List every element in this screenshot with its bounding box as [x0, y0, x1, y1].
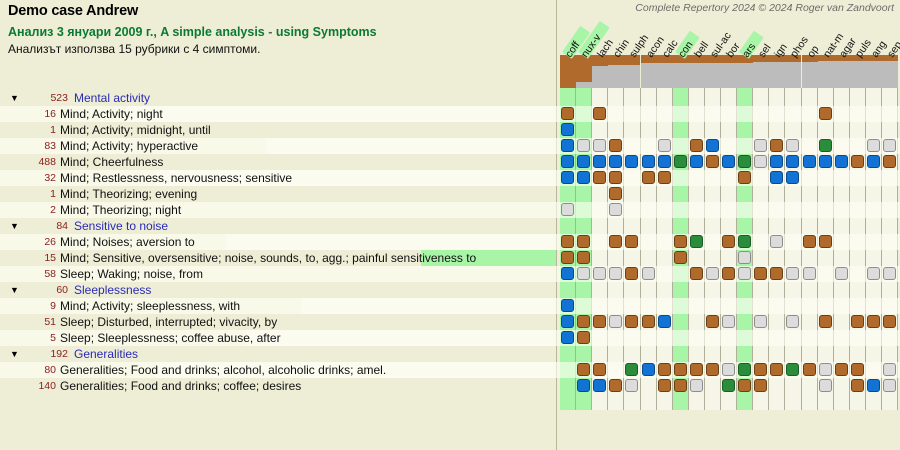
grade-dot[interactable] [819, 315, 832, 328]
grade-dot[interactable] [867, 379, 880, 392]
rubric-name[interactable]: Generalities; Food and drinks; alcohol, … [60, 362, 386, 378]
grade-dot[interactable] [867, 155, 880, 168]
grade-dot[interactable] [819, 379, 832, 392]
grade-dot[interactable] [883, 379, 896, 392]
grade-dot[interactable] [609, 187, 622, 200]
analysis-subtitle: Анализ 3 януари 2009 г., A simple analys… [8, 25, 377, 39]
table-row[interactable]: 32Mind; Restlessness, nervousness; sensi… [0, 170, 900, 186]
grade-dot[interactable] [803, 267, 816, 280]
grade-dot[interactable] [770, 155, 783, 168]
chevron-down-icon[interactable]: ▼ [10, 282, 19, 298]
grade-dot[interactable] [593, 267, 606, 280]
score-bar-coff[interactable] [560, 55, 576, 88]
score-bar-puls[interactable] [850, 55, 866, 88]
analysis-separator: - [265, 25, 276, 39]
grade-dot[interactable] [625, 235, 638, 248]
grade-dot[interactable] [883, 363, 896, 376]
table-row[interactable]: 1Mind; Activity; midnight, until [0, 122, 900, 138]
grade-dot[interactable] [754, 363, 767, 376]
grade-dot[interactable] [883, 315, 896, 328]
rubric-row-highlight [301, 298, 556, 314]
grade-dot[interactable] [803, 363, 816, 376]
grade-dot[interactable] [722, 379, 735, 392]
grade-dot[interactable] [593, 139, 606, 152]
rubric-name[interactable]: Mind; Theorizing; evening [60, 186, 197, 202]
rubric-name[interactable]: Mind; Cheerfulness [60, 154, 163, 170]
grade-dot[interactable] [625, 267, 638, 280]
grade-dot[interactable] [738, 363, 751, 376]
rubric-name[interactable]: Mind; Noises; aversion to [60, 234, 195, 250]
grade-dot[interactable] [674, 379, 687, 392]
rubric-name[interactable]: Mind; Activity; night [60, 106, 163, 122]
score-bar-con[interactable] [673, 55, 689, 88]
grade-dot[interactable] [561, 299, 574, 312]
rubric-name[interactable]: Mind; Theorizing; night [60, 202, 181, 218]
rubric-count: 15 [8, 250, 56, 266]
grade-dot[interactable] [690, 155, 703, 168]
rubric-count-text: Анализът използва 15 рубрики с 4 симптом… [8, 42, 260, 56]
grade-dot[interactable] [593, 315, 606, 328]
score-bar-ars[interactable] [737, 55, 753, 88]
grade-dot[interactable] [577, 331, 590, 344]
grade-dot[interactable] [561, 315, 574, 328]
grade-dot[interactable] [722, 267, 735, 280]
grade-dot[interactable] [561, 107, 574, 120]
grade-dot[interactable] [658, 155, 671, 168]
grade-dot[interactable] [642, 155, 655, 168]
grade-dot[interactable] [819, 107, 832, 120]
grade-dot[interactable] [674, 251, 687, 264]
rubric-row-highlight [126, 106, 556, 122]
score-bar-nux-v[interactable] [576, 55, 592, 88]
symptom-count: 523 [22, 90, 68, 106]
grade-dot[interactable] [738, 171, 751, 184]
grade-dot[interactable] [770, 139, 783, 152]
grade-dot[interactable] [770, 235, 783, 248]
grade-dot[interactable] [754, 155, 767, 168]
grade-dot[interactable] [690, 139, 703, 152]
grade-dot[interactable] [625, 155, 638, 168]
rubric-count: 5 [8, 330, 56, 346]
grade-dot[interactable] [658, 363, 671, 376]
score-bar-sulph[interactable] [624, 55, 640, 88]
grade-dot[interactable] [770, 171, 783, 184]
grade-dot[interactable] [803, 235, 816, 248]
score-bar-fill [560, 55, 576, 88]
analysis-tail-text: using Symptoms [276, 25, 377, 39]
grade-dot[interactable] [561, 235, 574, 248]
rubric-count: 1 [8, 122, 56, 138]
grade-dot[interactable] [754, 315, 767, 328]
grade-dot[interactable] [835, 155, 848, 168]
grade-dot[interactable] [642, 363, 655, 376]
grade-dot[interactable] [561, 203, 574, 216]
grade-dot[interactable] [561, 155, 574, 168]
symptom-name[interactable]: Sleeplessness [74, 282, 151, 298]
symptom-row[interactable]: ▼523Mental activity [0, 90, 900, 106]
grade-dot[interactable] [754, 267, 767, 280]
grade-dot[interactable] [577, 155, 590, 168]
grade-dot[interactable] [593, 171, 606, 184]
rubric-count: 83 [8, 138, 56, 154]
score-bar-ign[interactable] [769, 55, 785, 88]
repertory-analysis-window: Demo case Andrew Анализ 3 януари 2009 г.… [0, 0, 900, 450]
score-bar-calc[interactable] [657, 55, 673, 88]
symptom-name[interactable]: Sensitive to noise [74, 218, 168, 234]
rubric-count: 488 [8, 154, 56, 170]
grade-dot[interactable] [706, 139, 719, 152]
grade-dot[interactable] [835, 267, 848, 280]
grade-dot[interactable] [609, 203, 622, 216]
rubric-name[interactable]: Sleep; Disturbed, interrupted; vivacity,… [60, 314, 277, 330]
rubric-name[interactable]: Mind; Activity; midnight, until [60, 122, 211, 138]
grade-dot[interactable] [674, 155, 687, 168]
grade-dot[interactable] [658, 171, 671, 184]
grade-dot[interactable] [803, 155, 816, 168]
grade-dot[interactable] [722, 315, 735, 328]
grade-dot[interactable] [851, 155, 864, 168]
grade-dot[interactable] [609, 235, 622, 248]
grade-dot[interactable] [754, 379, 767, 392]
grade-dot[interactable] [738, 379, 751, 392]
grade-dot[interactable] [609, 379, 622, 392]
grade-dot[interactable] [706, 363, 719, 376]
rubric-count: 26 [8, 234, 56, 250]
grade-dot[interactable] [577, 267, 590, 280]
rubric-name[interactable]: Mind; Activity; hyperactive [60, 138, 198, 154]
rubric-row-highlight [266, 138, 556, 154]
symptom-count: 84 [22, 218, 68, 234]
grade-dot[interactable] [609, 139, 622, 152]
grade-dot[interactable] [819, 139, 832, 152]
grade-dot[interactable] [770, 363, 783, 376]
grade-dot[interactable] [786, 315, 799, 328]
rubric-name[interactable]: Mind; Activity; sleeplessness, with [60, 298, 240, 314]
grade-dot[interactable] [819, 235, 832, 248]
rubric-count: 80 [8, 362, 56, 378]
rubric-row-highlight [226, 234, 556, 250]
table-row[interactable]: 15Mind; Sensitive, oversensitive; noise,… [0, 250, 900, 266]
grade-dot[interactable] [722, 155, 735, 168]
symptom-row[interactable]: ▼84Sensitive to noise [0, 218, 900, 234]
grade-dot[interactable] [577, 379, 590, 392]
grade-dot[interactable] [786, 139, 799, 152]
rubric-count: 140 [8, 378, 56, 394]
rubric-name[interactable]: Sleep; Waking; noise, from [60, 266, 203, 282]
grade-dot[interactable] [609, 267, 622, 280]
grade-dot[interactable] [561, 171, 574, 184]
symptom-count: 192 [22, 346, 68, 362]
rubric-name[interactable]: Generalities; Food and drinks; coffee; d… [60, 378, 301, 394]
chevron-down-icon[interactable]: ▼ [10, 346, 19, 362]
grade-dot[interactable] [577, 139, 590, 152]
grade-dot[interactable] [561, 123, 574, 136]
grade-dot[interactable] [593, 155, 606, 168]
score-bar-bor[interactable] [721, 55, 737, 88]
rubric-count: 58 [8, 266, 56, 282]
grade-dot[interactable] [642, 171, 655, 184]
grade-dot[interactable] [577, 235, 590, 248]
score-bar-fill [576, 55, 592, 82]
table-row[interactable]: 5Sleep; Sleeplessness; coffee abuse, aft… [0, 330, 900, 346]
analysis-main-text: Анализ 3 януари 2009 г., A simple analys… [8, 25, 265, 39]
score-bar-bell[interactable] [689, 55, 705, 88]
score-bar-nat-m[interactable] [818, 55, 834, 88]
rubric-name[interactable]: Mind; Sensitive, oversensitive; noise, s… [60, 250, 476, 266]
grade-dot[interactable] [690, 235, 703, 248]
rubric-count: 2 [8, 202, 56, 218]
grade-dot[interactable] [658, 379, 671, 392]
grade-dot[interactable] [867, 267, 880, 280]
repertory-credit: Complete Repertory 2024 © 2024 Roger van… [635, 2, 894, 14]
grade-dot[interactable] [835, 363, 848, 376]
grade-dot[interactable] [658, 139, 671, 152]
grade-dot[interactable] [625, 315, 638, 328]
grade-dot[interactable] [851, 363, 864, 376]
grade-dot[interactable] [690, 379, 703, 392]
table-row[interactable]: 2Mind; Theorizing; night [0, 202, 900, 218]
grade-dot[interactable] [738, 155, 751, 168]
grade-dot[interactable] [609, 155, 622, 168]
grade-dot[interactable] [883, 139, 896, 152]
grade-dot[interactable] [722, 363, 735, 376]
grade-dot[interactable] [577, 251, 590, 264]
grade-dot[interactable] [706, 155, 719, 168]
chevron-down-icon[interactable]: ▼ [10, 218, 19, 234]
grade-dot[interactable] [690, 363, 703, 376]
symptom-row[interactable]: ▼60Sleeplessness [0, 282, 900, 298]
grade-dot[interactable] [819, 363, 832, 376]
rubric-row-highlight [246, 330, 556, 346]
chevron-down-icon[interactable]: ▼ [10, 90, 19, 106]
grade-dot[interactable] [625, 363, 638, 376]
grade-dot[interactable] [883, 155, 896, 168]
grade-dot[interactable] [561, 267, 574, 280]
grade-dot[interactable] [867, 139, 880, 152]
score-bar-lach[interactable] [592, 55, 608, 88]
grade-dot[interactable] [786, 363, 799, 376]
grade-dot[interactable] [883, 267, 896, 280]
grade-dot[interactable] [738, 251, 751, 264]
grade-dot[interactable] [561, 251, 574, 264]
grade-dot[interactable] [577, 171, 590, 184]
symptom-row[interactable]: ▼192Generalities [0, 346, 900, 362]
grade-dot[interactable] [561, 331, 574, 344]
grade-dot[interactable] [786, 171, 799, 184]
score-bar-sul-ac[interactable] [705, 55, 721, 88]
rubric-name[interactable]: Mind; Restlessness, nervousness; sensiti… [60, 170, 292, 186]
table-row[interactable]: 9Mind; Activity; sleeplessness, with [0, 298, 900, 314]
grade-dot[interactable] [690, 267, 703, 280]
grade-dot[interactable] [674, 363, 687, 376]
grade-dot[interactable] [738, 235, 751, 248]
grade-dot[interactable] [642, 315, 655, 328]
score-bar-op[interactable] [802, 55, 818, 88]
score-bar-sel[interactable] [753, 55, 769, 88]
page-title: Demo case Andrew [8, 3, 138, 19]
grade-dot[interactable] [593, 107, 606, 120]
grade-dot[interactable] [722, 235, 735, 248]
grade-dot[interactable] [786, 155, 799, 168]
grade-dot[interactable] [819, 155, 832, 168]
grade-dot[interactable] [625, 379, 638, 392]
score-bar-sep[interactable] [882, 55, 898, 88]
score-bar-acon[interactable] [641, 55, 657, 88]
rubric-count: 32 [8, 170, 56, 186]
score-bar-chin[interactable] [608, 55, 624, 88]
rubric-count: 1 [8, 186, 56, 202]
grade-dot[interactable] [658, 315, 671, 328]
grade-dot[interactable] [706, 267, 719, 280]
score-bar-agar[interactable] [834, 55, 850, 88]
grade-dot[interactable] [851, 315, 864, 328]
table-row[interactable]: 1Mind; Theorizing; evening [0, 186, 900, 202]
grade-dot[interactable] [851, 379, 864, 392]
grade-dot[interactable] [867, 315, 880, 328]
score-bar-phos[interactable] [785, 55, 801, 88]
grade-dot[interactable] [738, 267, 751, 280]
rubric-count: 9 [8, 298, 56, 314]
symptom-name[interactable]: Mental activity [74, 90, 150, 106]
grade-dot[interactable] [593, 379, 606, 392]
grade-dot[interactable] [577, 363, 590, 376]
symptom-name[interactable]: Generalities [74, 346, 138, 362]
grade-dot[interactable] [577, 315, 590, 328]
grade-dot[interactable] [674, 235, 687, 248]
score-bar-ang[interactable] [866, 55, 882, 88]
rubric-count: 16 [8, 106, 56, 122]
rubric-count: 51 [8, 314, 56, 330]
rubric-name[interactable]: Sleep; Sleeplessness; coffee abuse, afte… [60, 330, 281, 346]
grade-dot[interactable] [593, 363, 606, 376]
table-row[interactable]: 16Mind; Activity; night [0, 106, 900, 122]
grade-dot[interactable] [786, 267, 799, 280]
grade-dot[interactable] [642, 267, 655, 280]
grade-dot[interactable] [770, 267, 783, 280]
table-row[interactable]: 26Mind; Noises; aversion to [0, 234, 900, 250]
symptom-count: 60 [22, 282, 68, 298]
grade-dot[interactable] [609, 315, 622, 328]
grade-dot[interactable] [754, 139, 767, 152]
grade-dot[interactable] [609, 171, 622, 184]
grade-dot[interactable] [706, 315, 719, 328]
grade-dot[interactable] [561, 139, 574, 152]
